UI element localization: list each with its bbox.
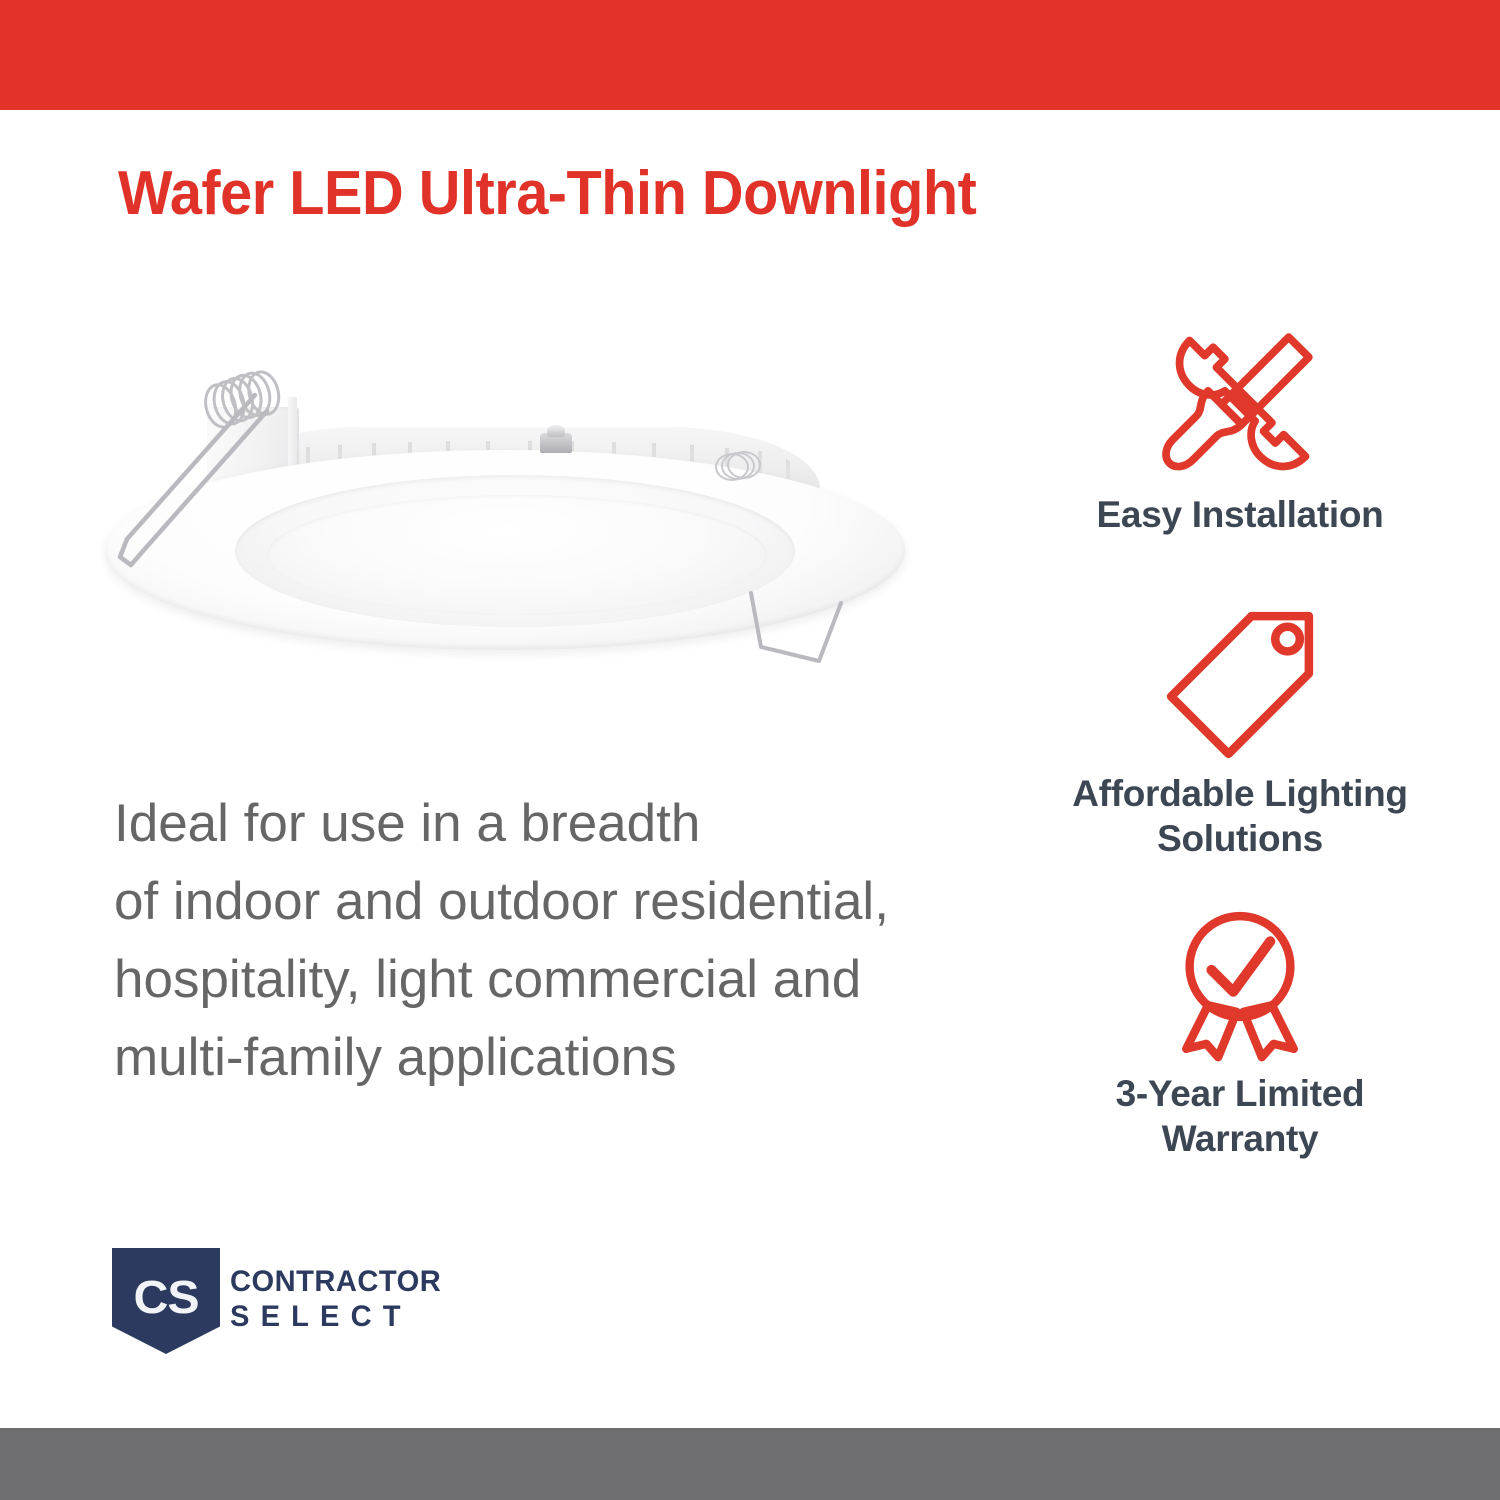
body-copy-line-4: multi-family applications	[114, 1019, 994, 1097]
body-copy-line-1: Ideal for use in a breadth	[114, 785, 994, 863]
feature-warranty: 3-Year Limited Warranty	[1020, 899, 1460, 1161]
award-ribbon-check-icon	[1020, 899, 1460, 1071]
feature-label-line-1: 3-Year Limited	[1020, 1071, 1460, 1116]
feature-affordable-lighting: Affordable Lighting Solutions	[1020, 599, 1460, 861]
body-copy-line-2: of indoor and outdoor residential,	[114, 863, 994, 941]
page-title: Wafer LED Ultra-Thin Downlight	[118, 163, 1048, 225]
footer-bar	[0, 1428, 1500, 1500]
price-tag-icon	[1020, 599, 1460, 771]
contractor-select-logo: CS CONTRACTOR SELECT	[112, 1248, 432, 1358]
logo-word-select: SELECT	[230, 1299, 441, 1335]
header-accent-bar	[0, 0, 1500, 110]
feature-label-line-1: Affordable Lighting	[1020, 771, 1460, 816]
feature-label-line-2: Solutions	[1020, 816, 1460, 861]
feature-label: Easy Installation	[1020, 492, 1460, 537]
product-wire-clip-left	[107, 389, 282, 589]
product-spring-coil-right	[715, 450, 759, 480]
product-image	[85, 355, 925, 665]
logo-monogram: CS	[109, 1270, 222, 1324]
logo-word-contractor: CONTRACTOR	[230, 1265, 441, 1299]
body-copy: Ideal for use in a breadth of indoor and…	[114, 785, 994, 1097]
feature-label-line-1: Easy Installation	[1020, 492, 1460, 537]
body-copy-line-3: hospitality, light commercial and	[114, 941, 994, 1019]
marketing-slide: Wafer LED Ultra-Thin Downlight	[0, 0, 1500, 1500]
product-wire-clip-right	[745, 585, 865, 675]
logo-wordmark: CONTRACTOR SELECT	[230, 1265, 448, 1335]
wrench-screwdriver-icon	[1020, 320, 1460, 492]
feature-list: Easy Installation Affordable Lighting So…	[1020, 320, 1460, 1161]
feature-label-line-2: Warranty	[1020, 1116, 1460, 1161]
feature-easy-installation: Easy Installation	[1020, 320, 1460, 537]
product-center-screw-cap	[547, 425, 565, 437]
feature-label: 3-Year Limited Warranty	[1020, 1071, 1460, 1161]
feature-label: Affordable Lighting Solutions	[1020, 771, 1460, 861]
product-diffuser-lens	[267, 495, 767, 615]
